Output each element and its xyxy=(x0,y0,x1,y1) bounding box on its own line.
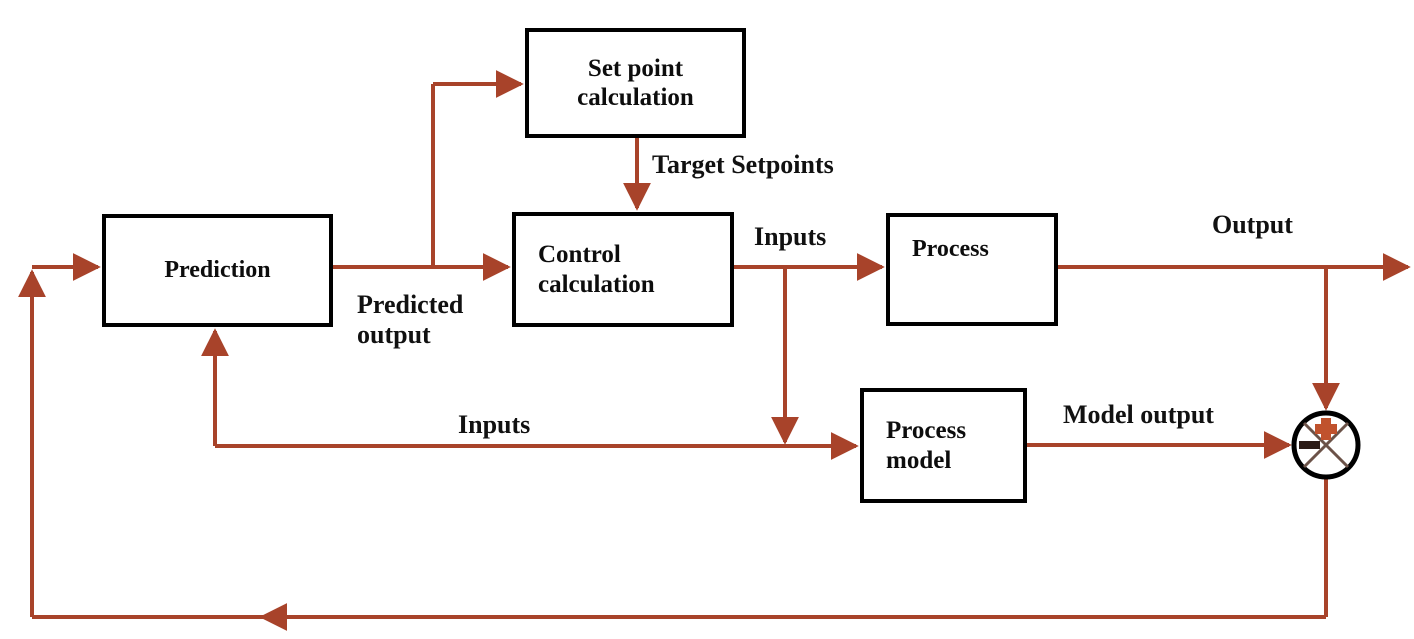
block-process[interactable]: Process xyxy=(886,213,1058,326)
block-process-model-label: Process model xyxy=(864,416,1023,475)
summing-junction xyxy=(1285,404,1367,486)
block-prediction-label: Prediction xyxy=(106,256,329,284)
edge-label-inputs-to-process: Inputs xyxy=(754,222,826,252)
edge-label-predicted-output: Predicted output xyxy=(357,290,463,350)
block-control-calculation-label: Control calculation xyxy=(516,240,730,299)
block-set-point-calculation-label: Set point calculation xyxy=(529,54,742,113)
block-process-model[interactable]: Process model xyxy=(860,388,1027,503)
edge-label-output: Output xyxy=(1212,210,1293,240)
block-diagram: Set point calculation Prediction Control… xyxy=(0,0,1414,639)
block-process-label: Process xyxy=(890,235,1054,263)
minus-icon xyxy=(1299,441,1320,449)
edge-label-target-setpoints: Target Setpoints xyxy=(652,150,834,180)
edge-label-model-output: Model output xyxy=(1063,400,1214,430)
edge-label-inputs-to-model: Inputs xyxy=(458,410,530,440)
block-set-point-calculation[interactable]: Set point calculation xyxy=(525,28,746,138)
block-prediction[interactable]: Prediction xyxy=(102,214,333,327)
block-control-calculation[interactable]: Control calculation xyxy=(512,212,734,327)
